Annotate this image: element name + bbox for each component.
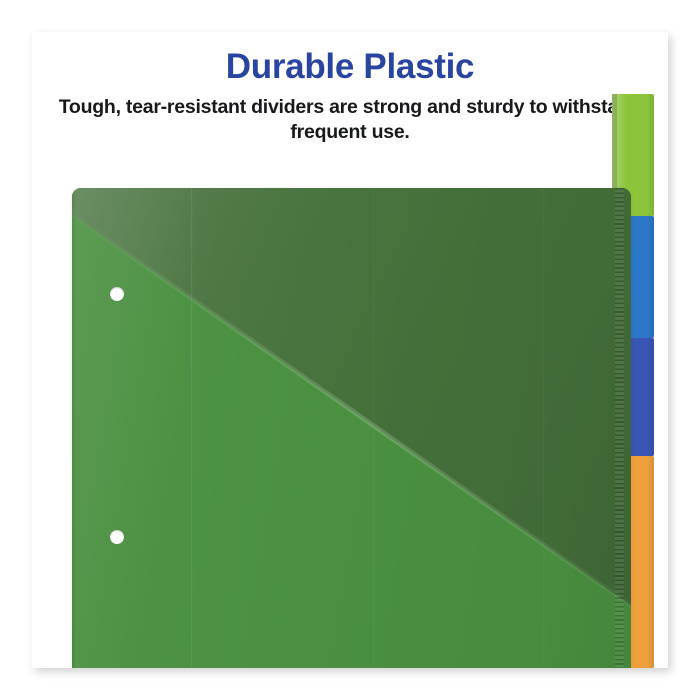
diagonal-pocket-flap	[72, 188, 631, 668]
tab-edge-shadow	[647, 456, 654, 668]
product-photo	[32, 32, 668, 668]
product-image-canvas: Durable Plastic Tough, tear-resistant di…	[0, 0, 700, 700]
sheet-left-edge	[72, 188, 76, 668]
tab-edge-shadow	[647, 216, 654, 338]
binder-hole-bottom	[110, 530, 124, 544]
tab-edge-shadow	[647, 338, 654, 456]
green-divider-sheet	[72, 188, 631, 668]
tab-edge-shadow	[647, 94, 654, 216]
binder-hole-top	[110, 287, 124, 301]
product-card: Durable Plastic Tough, tear-resistant di…	[32, 32, 668, 668]
